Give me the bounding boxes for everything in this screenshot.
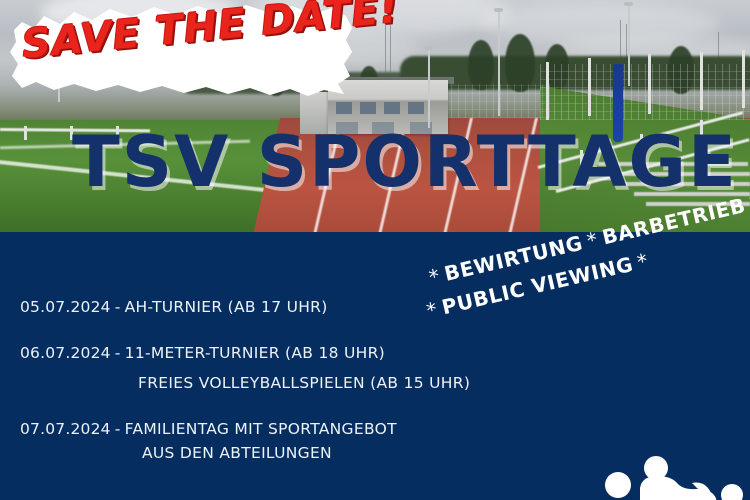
poster: SAVE THE DATE! TSV SPORTTAGE 2024 05.07.… <box>0 0 750 500</box>
barrier-post <box>24 126 27 140</box>
tree <box>468 40 494 90</box>
floodlight-mast <box>428 46 430 128</box>
athlete-silhouettes <box>596 455 750 500</box>
fence-post <box>648 54 651 114</box>
window <box>336 102 352 114</box>
floodlight-head <box>424 46 433 50</box>
floodlight-mast <box>498 8 500 116</box>
event-sub-description: FREIES VOLLEYBALLSPIELEN (AB 15 UHR) <box>138 374 490 392</box>
event-separator: - <box>111 298 125 316</box>
schedule-list: 05.07.2024-AH-TURNIER (AB 17 UHR) 06.07.… <box>20 298 490 490</box>
event-description: AH-TURNIER (AB 17 UHR) <box>125 298 328 316</box>
asterisk-icon: * <box>630 247 655 275</box>
fence-post <box>742 50 745 108</box>
event-date: 06.07.2024 <box>20 344 111 362</box>
event-separator: - <box>111 420 125 438</box>
schedule-row: 07.07.2024-FAMILIENTAG MIT SPORTANGEBOT <box>20 420 490 438</box>
floodlight-head <box>624 2 633 6</box>
fence-post <box>588 58 591 116</box>
schedule-item: 07.07.2024-FAMILIENTAG MIT SPORTANGEBOT … <box>20 420 490 462</box>
event-date: 05.07.2024 <box>20 298 111 316</box>
fence <box>540 64 750 120</box>
fence-post <box>700 52 703 110</box>
athlete-silhouette-icon <box>596 455 750 500</box>
event-description: 11-METER-TURNIER (AB 18 UHR) <box>125 344 385 362</box>
schedule-item: 06.07.2024-11-METER-TURNIER (AB 18 UHR) … <box>20 344 490 392</box>
schedule-row: 06.07.2024-11-METER-TURNIER (AB 18 UHR) <box>20 344 490 362</box>
page-title: TSV SPORTTAGE 2024 <box>72 126 732 198</box>
fence-post <box>546 62 549 120</box>
floodlight-head <box>494 8 503 12</box>
event-sub-description: AUS DEN ABTEILUNGEN <box>142 444 490 462</box>
floodlight-mast <box>628 2 630 86</box>
window <box>360 102 376 114</box>
window <box>384 102 400 114</box>
event-description: FAMILIENTAG MIT SPORTANGEBOT <box>125 420 397 438</box>
event-date: 07.07.2024 <box>20 420 111 438</box>
window <box>408 102 424 114</box>
fence <box>430 84 550 118</box>
event-separator: - <box>111 344 125 362</box>
